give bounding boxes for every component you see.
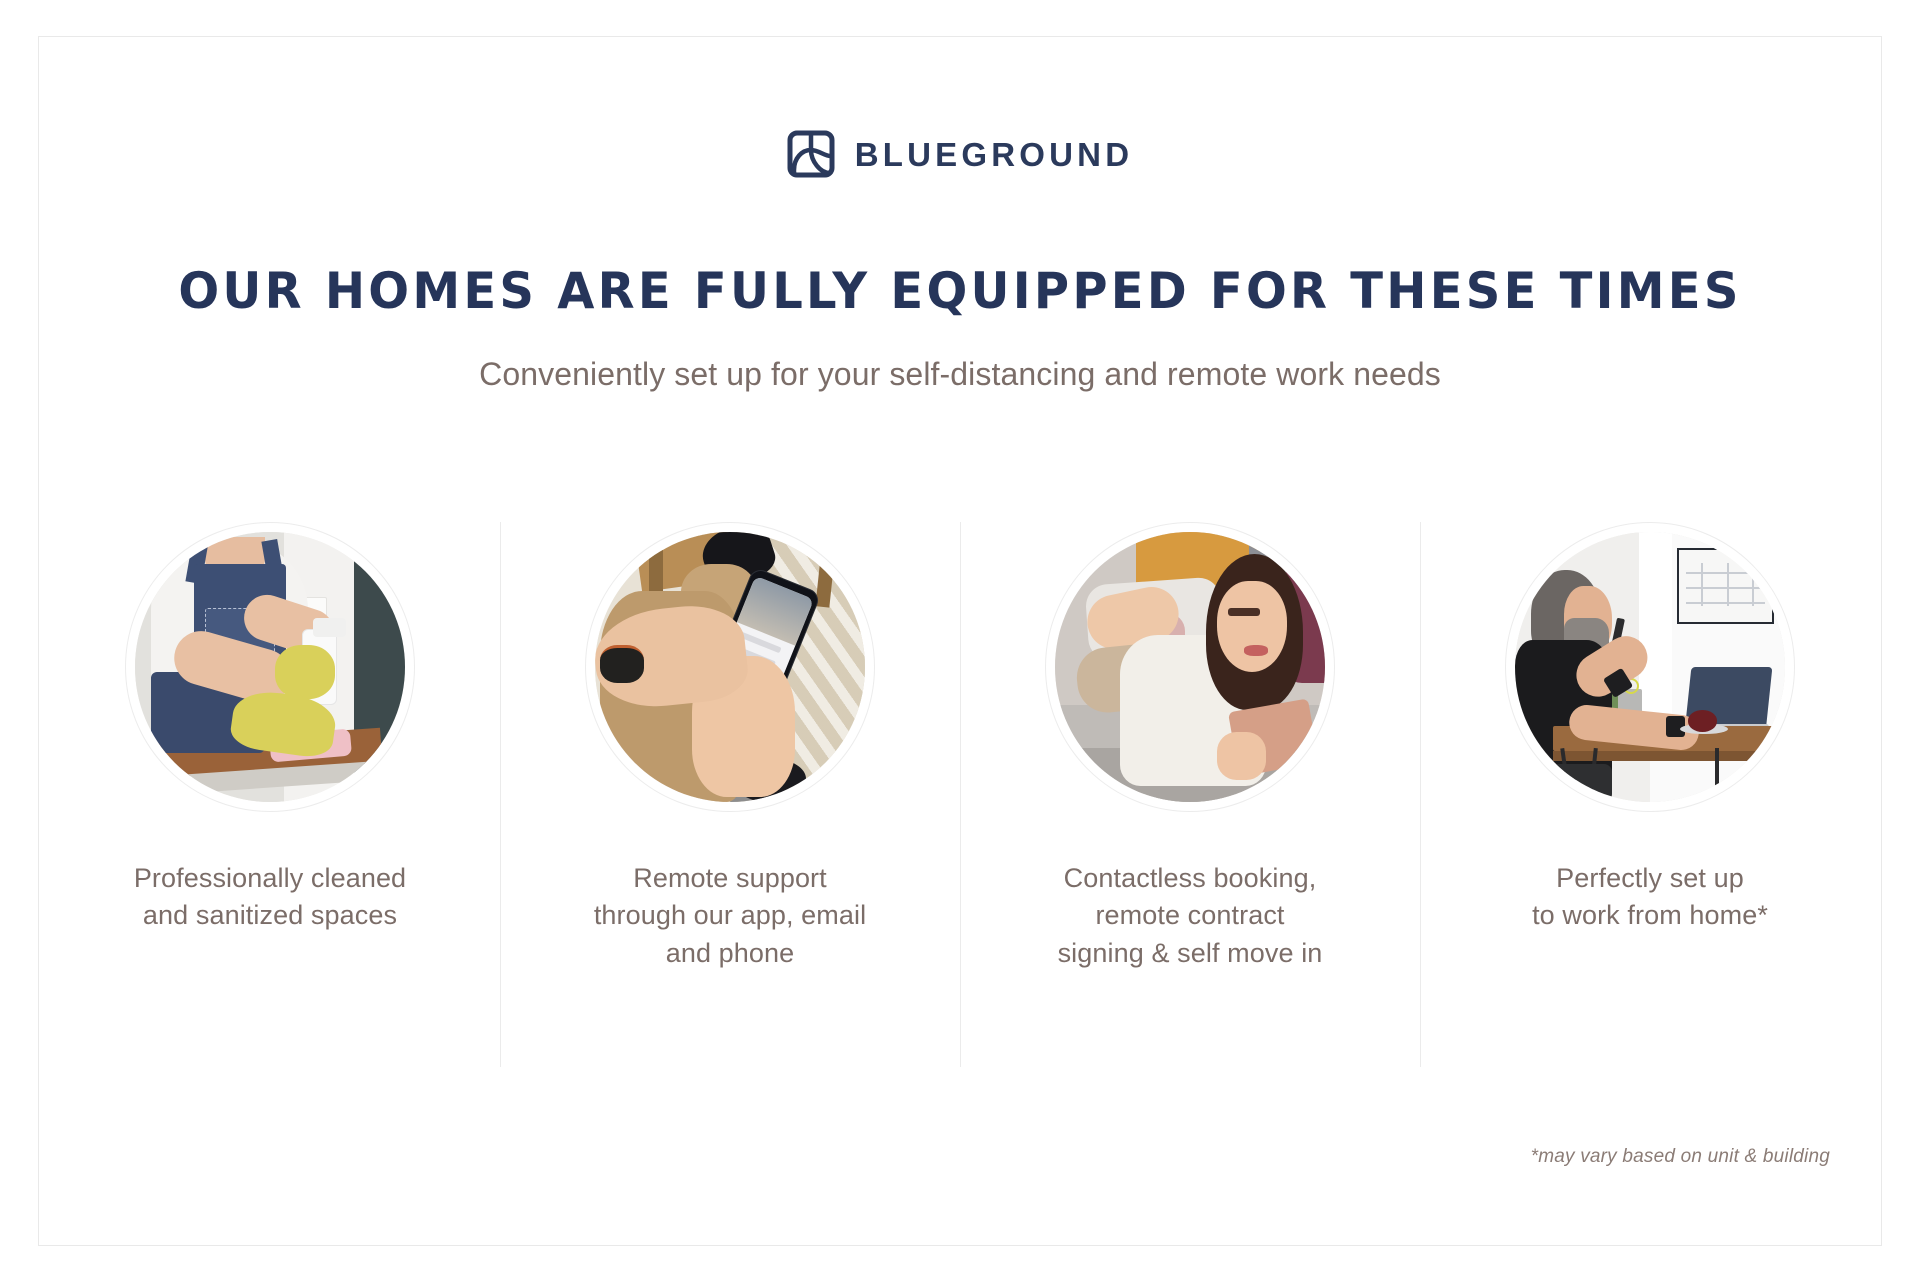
brand-logo[interactable]: BLUEGROUND xyxy=(0,130,1920,178)
page-title: OUR HOMES ARE FULLY EQUIPPED FOR THESE T… xyxy=(38,262,1881,320)
feature-photo-cleaning xyxy=(125,522,415,812)
brand-wordmark: BLUEGROUND xyxy=(855,138,1134,171)
page-subtitle: Conveniently set up for your self-distan… xyxy=(0,356,1920,393)
feature-caption: Contactless booking, remote contract sig… xyxy=(1058,860,1323,972)
feature-photo-work-from-home xyxy=(1505,522,1795,812)
feature-photo-contactless-booking xyxy=(1045,522,1335,812)
feature-columns: Professionally cleaned and sanitized spa… xyxy=(40,522,1880,1067)
blueground-square-logo-icon xyxy=(787,130,835,178)
feature-photo-remote-support xyxy=(585,522,875,812)
feature-item-remote-support: Remote support through our app, email an… xyxy=(500,522,960,972)
feature-item-work-from-home: Perfectly set up to work from home* xyxy=(1420,522,1880,935)
feature-caption: Perfectly set up to work from home* xyxy=(1532,860,1768,935)
footnote-disclaimer: *may vary based on unit & building xyxy=(1531,1146,1830,1168)
page-root: BLUEGROUND OUR HOMES ARE FULLY EQUIPPED … xyxy=(0,0,1920,1280)
feature-item-cleaning: Professionally cleaned and sanitized spa… xyxy=(40,522,500,935)
feature-caption: Professionally cleaned and sanitized spa… xyxy=(134,860,406,935)
feature-item-contactless-booking: Contactless booking, remote contract sig… xyxy=(960,522,1420,972)
feature-caption: Remote support through our app, email an… xyxy=(594,860,866,972)
